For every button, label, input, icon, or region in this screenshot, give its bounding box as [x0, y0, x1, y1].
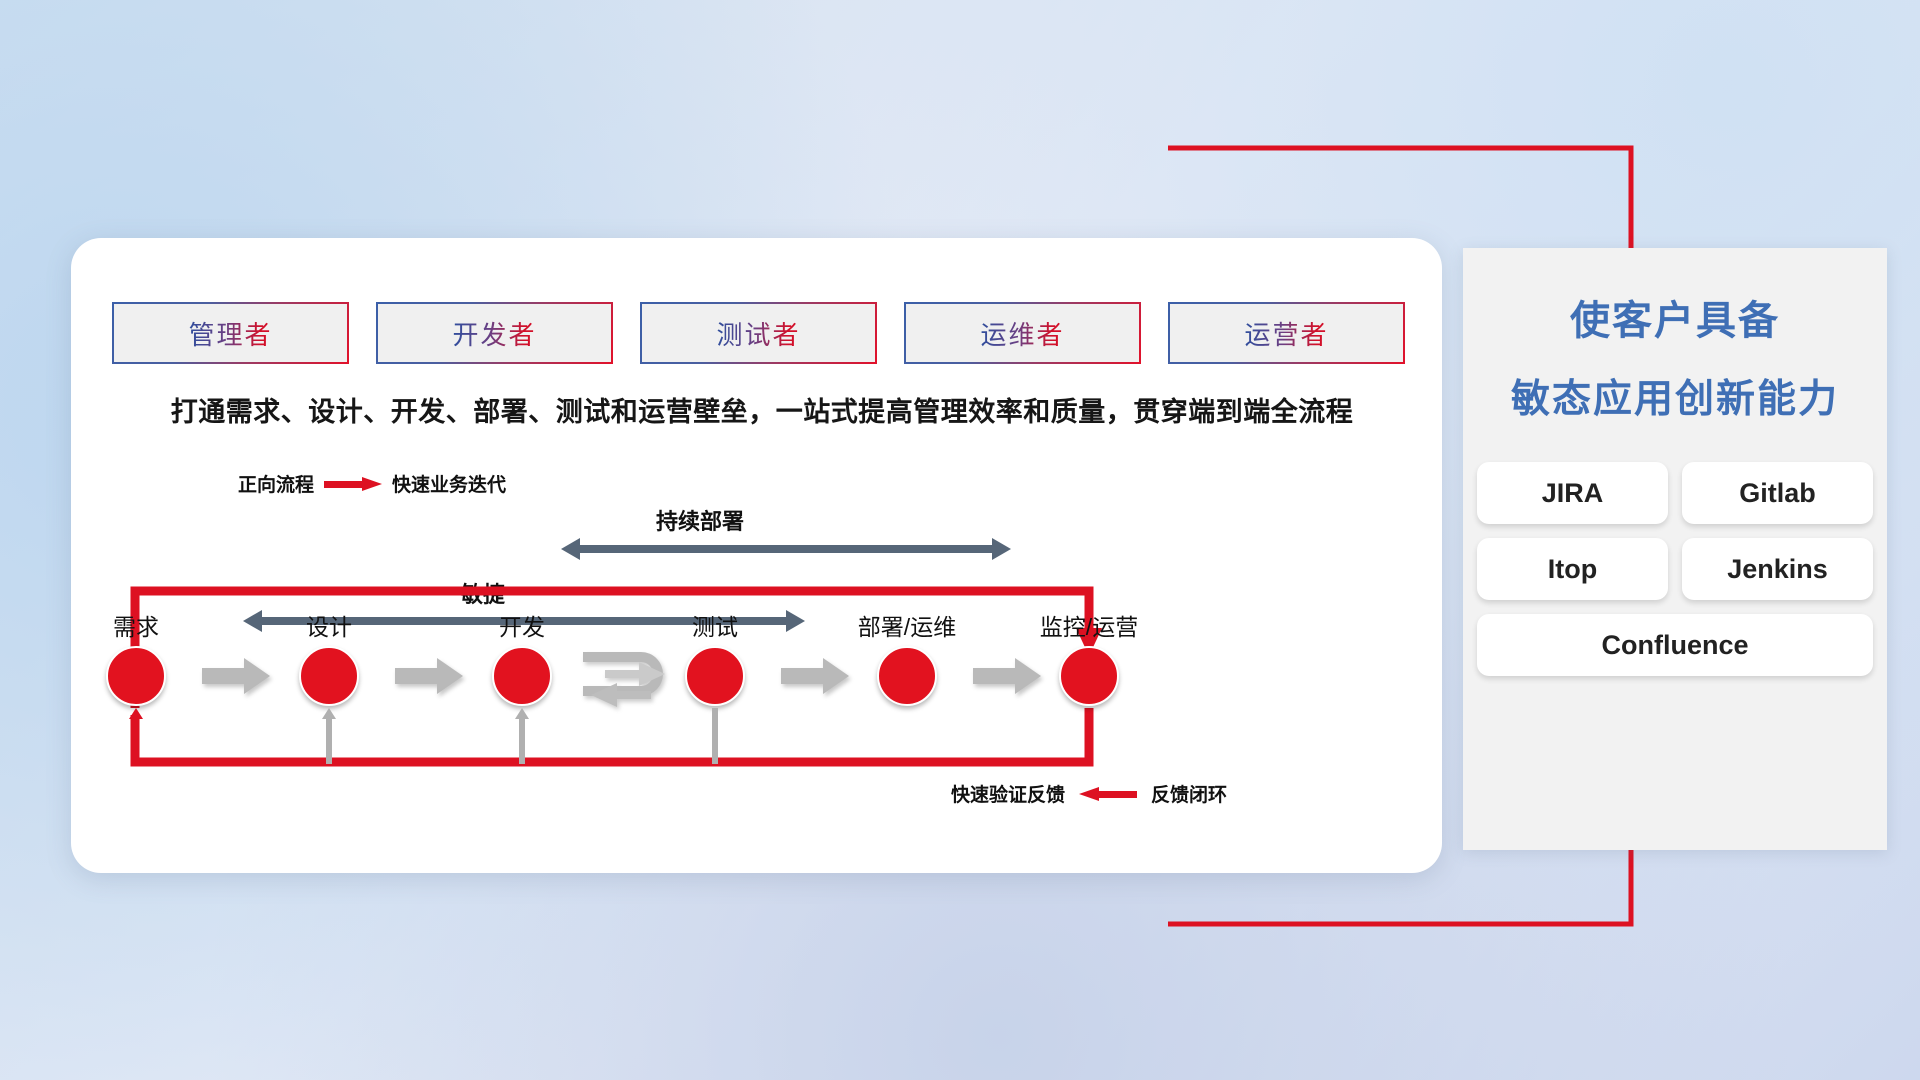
flow-node-dot — [1059, 646, 1119, 706]
main-diagram-card: 管理者 开发者 测试者 运维者 运营者 打通需求、设计、开发、部署、测试和运营壁… — [71, 238, 1442, 873]
tool-chip-itop[interactable]: Itop — [1477, 538, 1668, 600]
flow-node-label: 部署/运维 — [858, 608, 956, 642]
tool-chip-label: Jenkins — [1727, 554, 1828, 585]
flow-node-label: 设计 — [306, 608, 352, 642]
tool-chip-label: Itop — [1548, 554, 1597, 585]
value-proposition-panel: 使客户具备 敏态应用创新能力 JIRA Gitlab Itop Jenkins … — [1463, 248, 1887, 850]
arrow-right-gray-icon — [973, 658, 1041, 694]
arrow-right-gray-icon — [202, 658, 270, 694]
panel-title-line1: 使客户具备 — [1463, 288, 1887, 346]
arrow-right-gray-icon — [781, 658, 849, 694]
tool-chip-label: Confluence — [1601, 630, 1748, 661]
tool-chip-jira[interactable]: JIRA — [1477, 462, 1668, 524]
flow-node-dot — [877, 646, 937, 706]
role-label: 管理者 — [188, 315, 272, 352]
role-label: 运营者 — [1244, 315, 1328, 352]
tool-chip-gitlab[interactable]: Gitlab — [1682, 462, 1873, 524]
flow-node-dot — [299, 646, 359, 706]
tool-chip-jenkins[interactable]: Jenkins — [1682, 538, 1873, 600]
flow-node-design[interactable]: 设计 — [299, 646, 359, 706]
arrow-right-gray-icon — [395, 658, 463, 694]
feed-arrow-up-testing-icon — [708, 708, 722, 764]
flow-node-label: 需求 — [113, 608, 159, 642]
flow-node-dot — [492, 646, 552, 706]
loop-uturn-gray-icon — [579, 646, 677, 713]
flow-node-monitor-operations[interactable]: 监控/运营 — [1059, 646, 1119, 706]
flow-node-dot — [685, 646, 745, 706]
tool-chip-grid: JIRA Gitlab Itop Jenkins Confluence — [1477, 462, 1873, 676]
tool-chip-label: Gitlab — [1739, 478, 1816, 509]
flow-node-label: 开发 — [499, 608, 545, 642]
role-label: 开发者 — [452, 315, 536, 352]
flow-node-deploy-ops[interactable]: 部署/运维 — [877, 646, 937, 706]
role-label: 测试者 — [716, 315, 800, 352]
feed-arrow-up-design-icon — [322, 708, 336, 764]
tool-chip-label: JIRA — [1542, 478, 1604, 509]
feed-arrow-up-development-icon — [515, 708, 529, 764]
flow-node-label: 监控/运营 — [1040, 608, 1138, 642]
flow-node-development[interactable]: 开发 — [492, 646, 552, 706]
panel-title-line2: 敏态应用创新能力 — [1463, 368, 1887, 424]
tool-chip-confluence[interactable]: Confluence — [1477, 614, 1873, 676]
flow-node-dot — [106, 646, 166, 706]
flow-node-label: 测试 — [692, 608, 738, 642]
role-label: 运维者 — [980, 315, 1064, 352]
flow-node-requirement[interactable]: 需求 — [106, 646, 166, 706]
flow-node-testing[interactable]: 测试 — [685, 646, 745, 706]
feed-arrow-up-requirement-icon — [129, 708, 143, 764]
